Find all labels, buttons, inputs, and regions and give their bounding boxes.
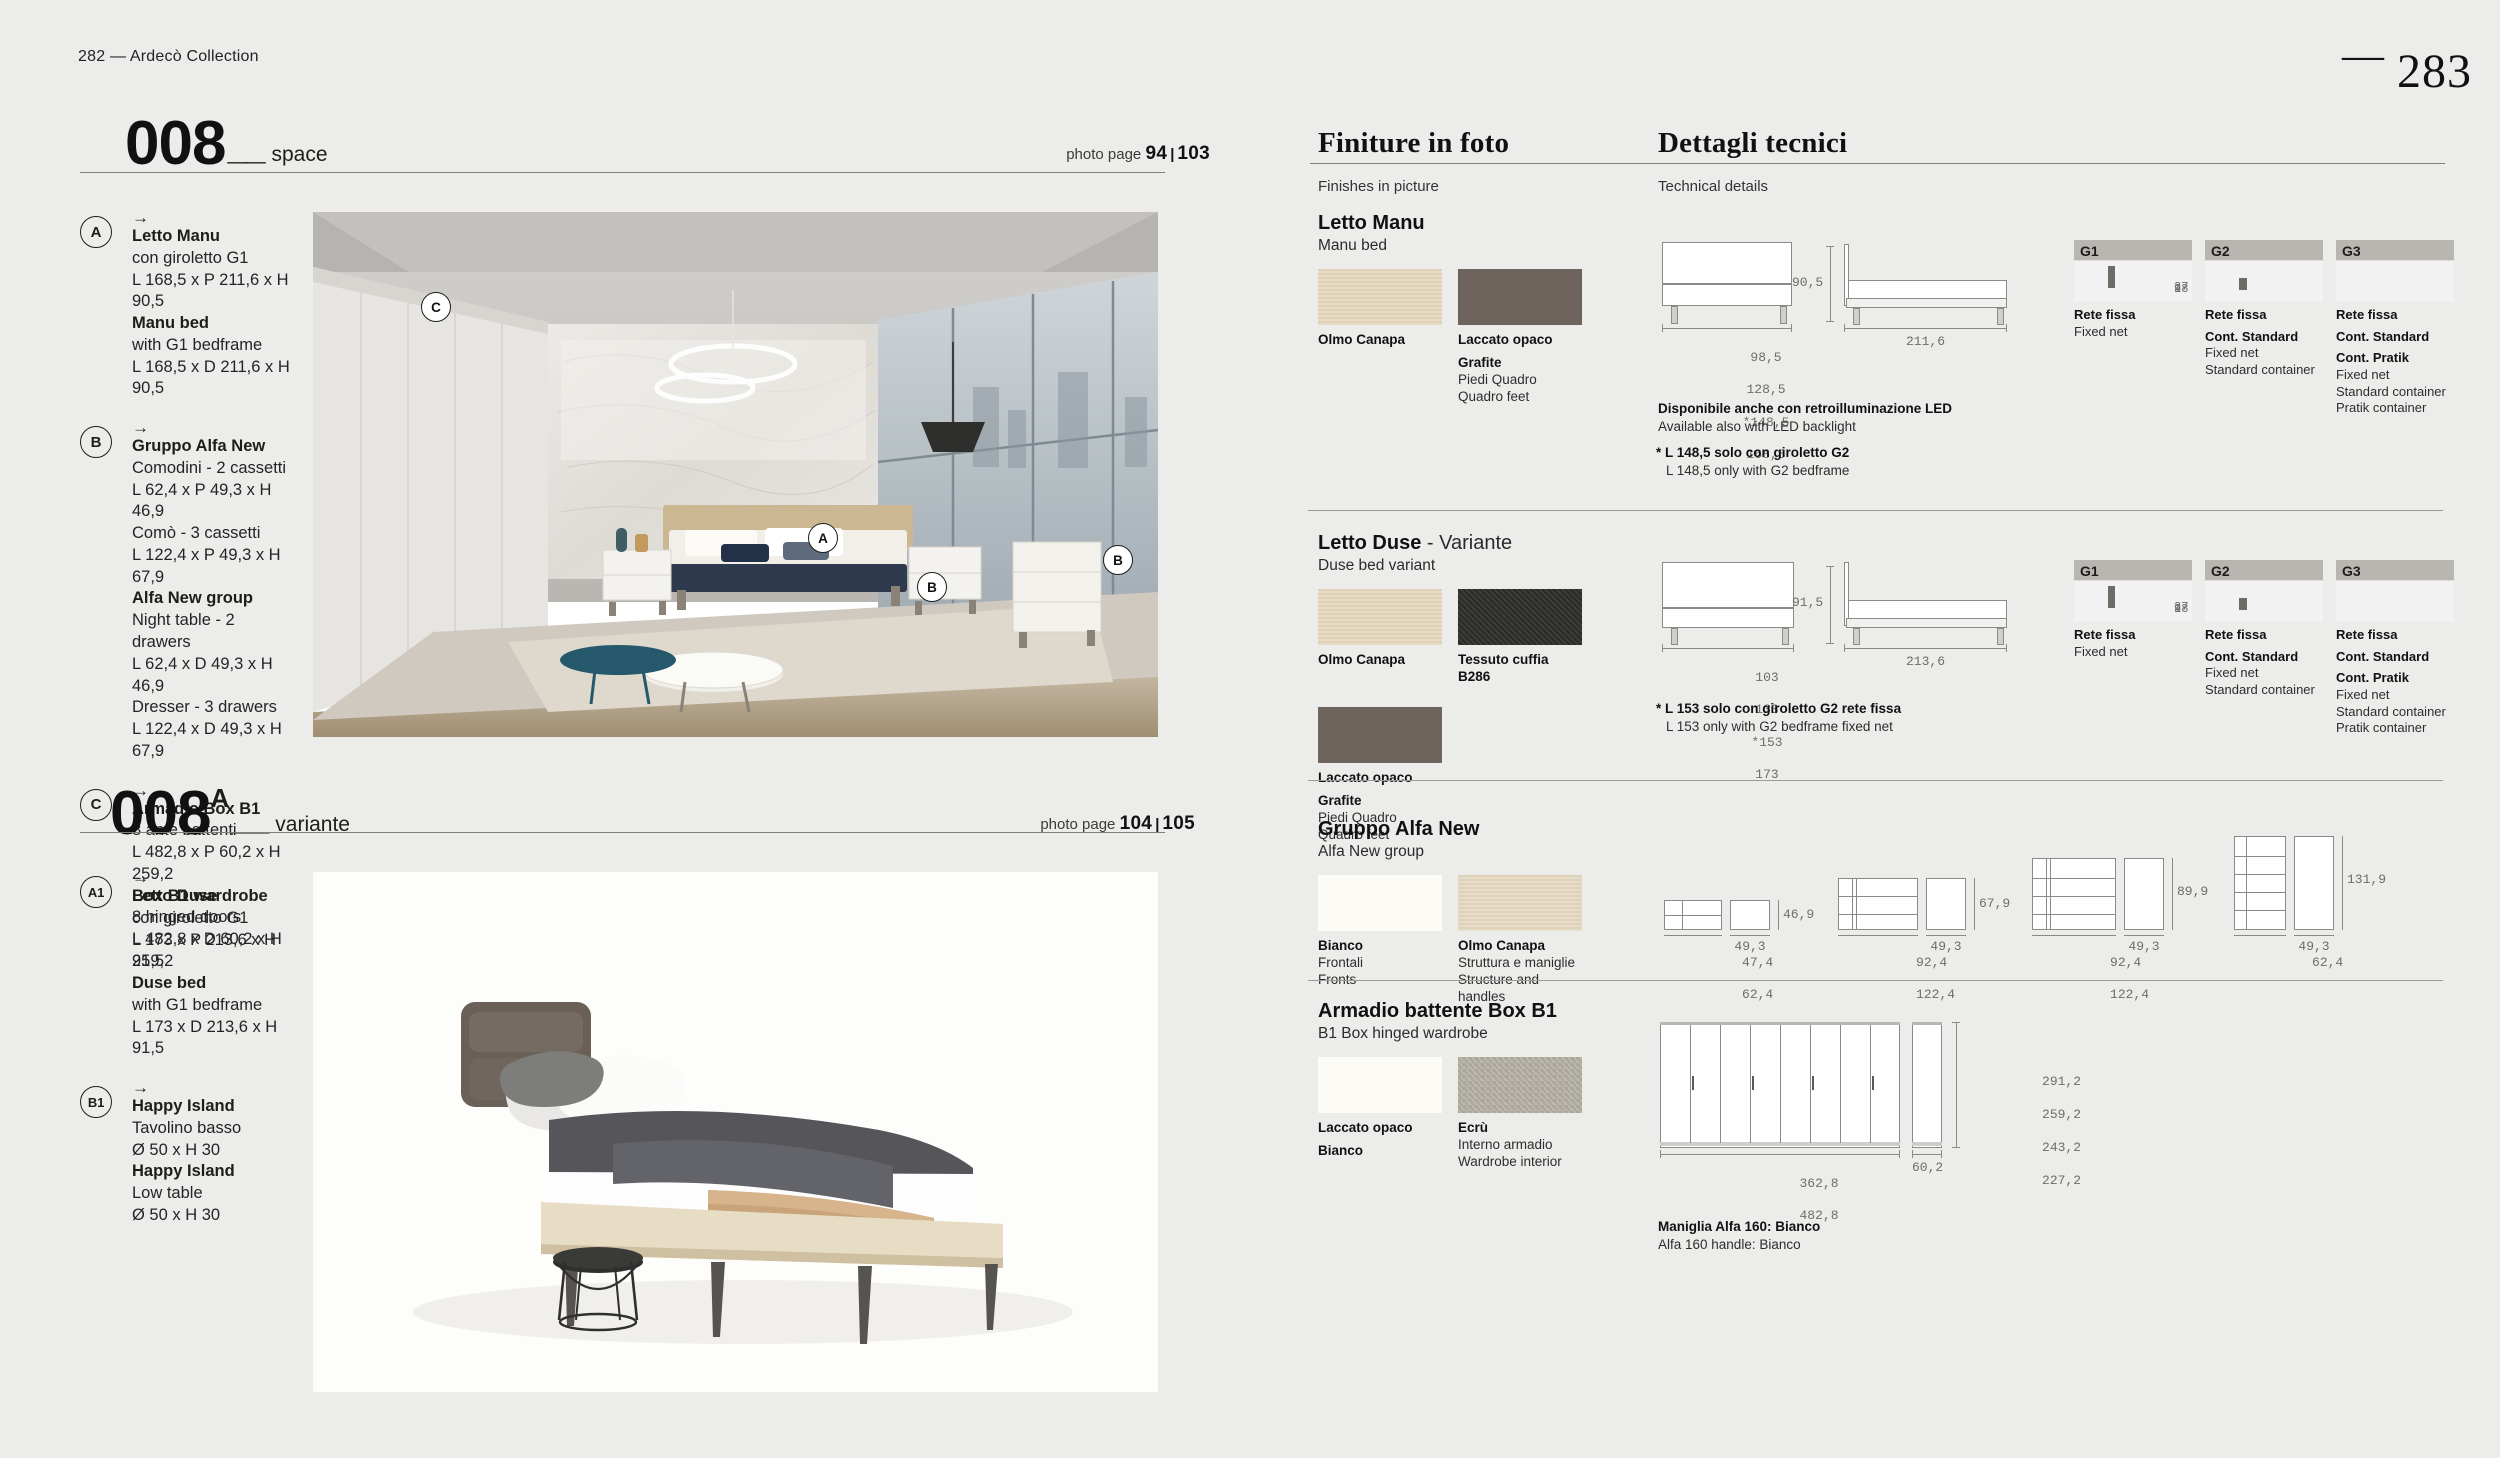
box-finishes: Armadio battente Box B1 B1 Box hinged wa… xyxy=(1318,1000,1618,1170)
photo-callout-b1[interactable]: B xyxy=(917,572,947,602)
list-item: B → Gruppo Alfa New Comodini - 2 cassett… xyxy=(80,422,290,762)
item-desc-it: con giroletto G1 xyxy=(132,248,290,270)
frame-option: G3 27 Rete fissa Cont. Standard Cont. Pr… xyxy=(2336,560,2454,737)
swatch-color xyxy=(1318,875,1442,931)
swatch-desc: Piedi Quadro xyxy=(1458,371,1582,388)
frame-en-1: Fixed net xyxy=(2336,367,2454,384)
photo-page-label: photo page xyxy=(1066,146,1141,163)
item-name-it: Letto Duse xyxy=(132,886,290,908)
item-dim-en-2: L 122,4 x D 49,3 x H 67,9 xyxy=(132,719,290,763)
frame-name-1: Rete fissa xyxy=(2205,307,2323,324)
note-en: L 153 only with G2 bedframe fixed net xyxy=(1666,718,1893,736)
item-badge: B xyxy=(80,426,112,458)
photo-page-from: 104 xyxy=(1120,813,1153,834)
alfa-u2-height: 67,9 xyxy=(1979,896,2010,912)
item-desc-en: with G1 bedframe xyxy=(132,995,290,1017)
box-depth: 60,2 xyxy=(1912,1160,1942,1176)
note-it: Disponibile anche con retroilluminazione… xyxy=(1658,401,1952,416)
swatch-color xyxy=(1318,589,1442,645)
swatch-desc: Struttura e maniglie xyxy=(1458,954,1582,971)
frame-en-3: Pratik container xyxy=(2336,720,2454,737)
alfa-u1-depth: 49,3 xyxy=(1730,939,1770,955)
right-page: —283 Finiture in foto Dettagli tecnici F… xyxy=(1250,0,2500,1458)
manu-note-asterisk: * L 148,5 solo con giroletto G2 L 148,5 … xyxy=(1656,444,1849,479)
column-header-finishes: Finiture in foto xyxy=(1318,128,1638,158)
frame-code: G3 xyxy=(2342,563,2361,579)
item-name-en: Happy Island xyxy=(132,1161,290,1183)
note-it: * L 153 solo con giroletto G2 rete fissa xyxy=(1656,701,1901,716)
swatch: Olmo Canapa Struttura e maniglie Structu… xyxy=(1458,875,1582,1005)
swatch: Olmo Canapa xyxy=(1318,589,1442,685)
section-header-008: 008 __ space photo page 94|103 xyxy=(125,118,1210,170)
item-desc-it: Comodini - 2 cassetti xyxy=(132,458,290,480)
swatch-name-2: Bianco xyxy=(1318,1142,1442,1159)
photo-page-to: 103 xyxy=(1177,143,1210,164)
arrow-icon: → xyxy=(132,1082,290,1094)
section-word: variante xyxy=(275,813,350,837)
frame-en-2: Standard container xyxy=(2205,362,2323,379)
swatch: Olmo Canapa xyxy=(1318,269,1442,405)
item-dim-it: L 168,5 x P 211,6 x H 90,5 xyxy=(132,270,290,314)
manu-note-led: Disponibile anche con retroilluminazione… xyxy=(1658,400,1952,435)
list-item: A1 → Letto Duse con giroletto G1 L 173 x… xyxy=(80,872,290,1060)
item-desc-en: Low table xyxy=(132,1183,290,1205)
swatch-name: Olmo Canapa xyxy=(1318,651,1442,668)
manu-finishes: Letto Manu Manu bed Olmo Canapa Laccato … xyxy=(1318,212,1608,405)
manu-title-en: Manu bed xyxy=(1318,237,1608,255)
room-photo: C A B B xyxy=(313,212,1158,737)
frame-name-2: Cont. Standard xyxy=(2336,329,2454,346)
swatch-desc-2: Quadro feet xyxy=(1458,388,1582,405)
swatch-color xyxy=(1458,589,1582,645)
item-desc-it: con giroletto G1 xyxy=(132,908,290,930)
page-number-value: 283 xyxy=(2397,45,2472,98)
swatch-name: Laccato opaco xyxy=(1458,331,1582,348)
duse-title-it: Letto Duse - Variante xyxy=(1318,532,1608,555)
swatch: Laccato opaco Bianco xyxy=(1318,1057,1442,1170)
swatch-color xyxy=(1318,1057,1442,1113)
item-desc-en: with G1 bedframe xyxy=(132,335,290,357)
frame-option: G3 27 Rete fissa Cont. Standard Cont. Pr… xyxy=(2336,240,2454,417)
duse-side-length: 213,6 xyxy=(1844,654,2007,670)
swatch-color xyxy=(1318,269,1442,325)
item-dim-it: Ø 50 x H 30 xyxy=(132,1140,290,1162)
photo-page-to: 105 xyxy=(1162,813,1195,834)
duse-note-asterisk: * L 153 solo con giroletto G2 rete fissa… xyxy=(1656,700,1901,735)
item-badge: B1 xyxy=(80,1086,112,1118)
swatch-color xyxy=(1458,875,1582,931)
frame-name-3: Cont. Pratik xyxy=(2336,350,2454,367)
frame-en-2: Standard container xyxy=(2205,682,2323,699)
frame-dim: 27 xyxy=(2174,280,2450,294)
frame-code: G2 xyxy=(2211,243,2230,259)
duse-side-height: 91,5 xyxy=(1792,595,1823,611)
section-word: space xyxy=(272,143,328,167)
technical-title: Dettagli tecnici xyxy=(1658,128,2078,158)
frame-option: G1 9 Rete fissa Fixed net xyxy=(2074,240,2192,417)
list-item: A → Letto Manu con giroletto G1 L 168,5 … xyxy=(80,212,290,400)
frame-name-1: Rete fissa xyxy=(2336,307,2454,324)
note-en: L 148,5 only with G2 bedframe xyxy=(1666,462,1849,480)
column-header-technical: Dettagli tecnici xyxy=(1658,128,2078,158)
finishes-subtitle: Finishes in picture xyxy=(1318,178,1439,195)
frame-name-1: Rete fissa xyxy=(2074,627,2192,644)
section-dash: __ xyxy=(227,126,263,168)
alfa-drawings: 47,4 62,4 92,4 49,3 46,9 92,4 122,4 xyxy=(1660,836,2400,956)
box-heights: 291,2 259,2 243,2 227,2 xyxy=(1964,1058,2081,1205)
duse-drawings: 103 133 *153 173 213,6 91,5 xyxy=(1658,560,2028,690)
item-dim-en: L 173 x D 213,6 x H 91,5 xyxy=(132,1017,290,1061)
item-badge: A xyxy=(80,216,112,248)
item-desc-en: Night table - 2 drawers xyxy=(132,610,290,654)
box-note-handle: Maniglia Alfa 160: Bianco Alfa 160 handl… xyxy=(1658,1218,1820,1253)
photo-page-label: photo page xyxy=(1040,816,1115,833)
technical-subtitle: Technical details xyxy=(1658,178,1768,195)
page-dash: — xyxy=(2342,33,2385,79)
frame-en-1: Fixed net xyxy=(2205,665,2323,682)
duse-finishes: Letto Duse - Variante Duse bed variant O… xyxy=(1318,532,1608,843)
note-en: Alfa 160 handle: Bianco xyxy=(1658,1237,1801,1252)
section-superscript: A xyxy=(210,783,229,814)
item-name-en: Manu bed xyxy=(132,313,290,335)
swatch-name-2: Grafite xyxy=(1458,354,1582,371)
frame-name-3: Cont. Pratik xyxy=(2336,670,2454,687)
item-dim-it: L 62,4 x P 49,3 x H 46,9 xyxy=(132,480,290,524)
swatch: Tessuto cuffia B286 xyxy=(1458,589,1582,685)
swatch-color xyxy=(1318,707,1442,763)
duse-bedframes: G1 9 Rete fissa Fixed net G2 18 Rete fis… xyxy=(2074,560,2454,737)
swatch: Laccato opaco Grafite Piedi Quadro Quadr… xyxy=(1458,269,1582,405)
swatch-name: Olmo Canapa xyxy=(1458,937,1582,954)
box-title-en: B1 Box hinged wardrobe xyxy=(1318,1025,1618,1043)
box-title-it: Armadio battente Box B1 xyxy=(1318,1000,1618,1023)
alfa-u2-depth: 49,3 xyxy=(1926,939,1966,955)
swatch-color xyxy=(1458,269,1582,325)
item-name-it: Gruppo Alfa New xyxy=(132,436,290,458)
finishes-subtitle-wrap: Finishes in picture xyxy=(1318,171,1439,195)
alfa-u3-depth: 49,3 xyxy=(2124,939,2164,955)
item-dim-en: Ø 50 x H 30 xyxy=(132,1205,290,1227)
manu-side-height: 90,5 xyxy=(1792,275,1823,291)
item-dim-en: L 168,5 x D 211,6 x H 90,5 xyxy=(132,357,290,401)
swatch-name: Ecrù xyxy=(1458,1119,1582,1136)
item-badge: C xyxy=(80,789,112,821)
arrow-icon: → xyxy=(132,422,290,434)
swatch-name: Olmo Canapa xyxy=(1318,331,1442,348)
frame-name-2: Cont. Standard xyxy=(2336,649,2454,666)
note-it: * L 148,5 solo con giroletto G2 xyxy=(1656,445,1849,460)
frame-name-2: Cont. Standard xyxy=(2205,329,2323,346)
frame-code: G1 xyxy=(2080,563,2099,579)
arrow-icon: → xyxy=(132,872,290,884)
alfa-u4-depth: 49,3 xyxy=(2294,939,2334,955)
page-number: —283 xyxy=(2342,24,2472,91)
swatch-name: Laccato opaco xyxy=(1318,1119,1442,1136)
manu-title-it: Letto Manu xyxy=(1318,212,1608,235)
note-en: Available also with LED backlight xyxy=(1658,419,1856,434)
section-code: 008 xyxy=(125,118,225,170)
frame-option: G2 18 Rete fissa Cont. Standard Fixed ne… xyxy=(2205,240,2323,417)
catalog-spread: 282 — Ardecò Collection 008 __ space pho… xyxy=(0,0,2500,1458)
photo-page-from: 94 xyxy=(1145,143,1167,164)
item-dim-it: L 173 x P 213,6 x H 91,5 xyxy=(132,930,290,974)
item-name-en: Alfa New group xyxy=(132,588,290,610)
swatch-desc: Frontali xyxy=(1318,954,1442,971)
swatch-name-2: Grafite xyxy=(1318,792,1442,809)
photo-page-ref: photo page 94|103 xyxy=(1066,143,1210,165)
manu-bedframes: G1 9 Rete fissa Fixed net G2 18 Rete fis… xyxy=(2074,240,2454,417)
section-rule-008 xyxy=(80,172,1165,173)
folio-left: 282 — Ardecò Collection xyxy=(78,48,259,66)
swatch-name: Tessuto cuffia B286 xyxy=(1458,651,1582,685)
item-name-it: Letto Manu xyxy=(132,226,290,248)
frame-code: G3 xyxy=(2342,243,2361,259)
frame-name-2: Cont. Standard xyxy=(2205,649,2323,666)
duse-title-en: Duse bed variant xyxy=(1318,557,1608,575)
bed-photo: A1 B1 xyxy=(313,872,1158,1392)
room-photo-illustration xyxy=(313,212,1158,737)
frame-code: G1 xyxy=(2080,243,2099,259)
swatch: Ecrù Interno armadio Wardrobe interior xyxy=(1458,1057,1582,1170)
frame-option: G2 18 Rete fissa Cont. Standard Fixed ne… xyxy=(2205,560,2323,737)
alfa-title-en: Alfa New group xyxy=(1318,843,1608,861)
frame-option: G1 9 Rete fissa Fixed net xyxy=(2074,560,2192,737)
photo-callout-b2[interactable]: B xyxy=(1103,545,1133,575)
frame-name-1: Rete fissa xyxy=(2336,627,2454,644)
alfa-u3-height: 89,9 xyxy=(2177,884,2208,900)
photo-callout-c[interactable]: C xyxy=(421,292,451,322)
item-desc-it-2: Comò - 3 cassetti xyxy=(132,523,290,545)
frame-en-3: Pratik container xyxy=(2336,400,2454,417)
swatch-desc: Interno armadio xyxy=(1458,1136,1582,1153)
frame-name-1: Rete fissa xyxy=(2205,627,2323,644)
swatch-color xyxy=(1458,1057,1582,1113)
item-desc-it: Tavolino basso xyxy=(132,1118,290,1140)
right-header-rule xyxy=(1310,163,2445,164)
bed-photo-illustration xyxy=(313,872,1158,1392)
swatch: Bianco Frontali Fronts xyxy=(1318,875,1442,1005)
item-dim-it-2: L 122,4 x P 49,3 x H 67,9 xyxy=(132,545,290,589)
box-drawings: 362,8 482,8 60,2 291,2 259,2 243,2 227,2 xyxy=(1660,1022,2080,1202)
duse-variant-label: - Variante xyxy=(1427,532,1512,554)
duse-swatch-row-1: Olmo Canapa Tessuto cuffia B286 xyxy=(1318,589,1608,685)
item-name-it: Happy Island xyxy=(132,1096,290,1118)
frame-en-2: Standard container xyxy=(2336,704,2454,721)
frame-en-1: Fixed net xyxy=(2336,687,2454,704)
note-it: Maniglia Alfa 160: Bianco xyxy=(1658,1219,1820,1234)
frame-en-1: Fixed net xyxy=(2074,644,2192,661)
item-badge: A1 xyxy=(80,876,112,908)
box-swatch-row: Laccato opaco Bianco Ecrù Interno armadi… xyxy=(1318,1057,1618,1170)
arrow-icon: → xyxy=(132,212,290,224)
manu-side-length: 211,6 xyxy=(1844,334,2007,350)
alfa-u1-height: 46,9 xyxy=(1783,907,1814,923)
frame-en-1: Fixed net xyxy=(2074,324,2192,341)
frame-dim: 27 xyxy=(2174,600,2450,614)
swatch-name: Laccato opaco xyxy=(1318,769,1442,786)
alfa-swatch-row: Bianco Frontali Fronts Olmo Canapa Strut… xyxy=(1318,875,1608,1005)
frame-en-2: Standard container xyxy=(2336,384,2454,401)
frame-code: G2 xyxy=(2211,563,2230,579)
item-desc-en-2: Dresser - 3 drawers xyxy=(132,697,290,719)
item-dim-en: L 62,4 x D 49,3 x H 46,9 xyxy=(132,654,290,698)
section-rule-008a xyxy=(80,832,1165,833)
swatch-name: Bianco xyxy=(1318,937,1442,954)
item-list-008a: A1 → Letto Duse con giroletto G1 L 173 x… xyxy=(80,872,290,1249)
frame-name-1: Rete fissa xyxy=(2074,307,2192,324)
manu-drawings: 98,5 128,5 *148,5 168,5 211,6 90,5 xyxy=(1658,242,2028,372)
item-name-en: Duse bed xyxy=(132,973,290,995)
technical-subtitle-wrap: Technical details xyxy=(1658,171,1768,195)
alfa-finishes: Gruppo Alfa New Alfa New group Bianco Fr… xyxy=(1318,818,1608,1005)
swatch-desc-2: Wardrobe interior xyxy=(1458,1153,1582,1170)
frame-en-1: Fixed net xyxy=(2205,345,2323,362)
left-page: 282 — Ardecò Collection 008 __ space pho… xyxy=(0,0,1250,1458)
list-item: B1 → Happy Island Tavolino basso Ø 50 x … xyxy=(80,1082,290,1227)
manu-swatch-row: Olmo Canapa Laccato opaco Grafite Piedi … xyxy=(1318,269,1608,405)
finishes-title: Finiture in foto xyxy=(1318,128,1638,158)
alfa-title-it: Gruppo Alfa New xyxy=(1318,818,1608,841)
alfa-u4-height: 131,9 xyxy=(2347,872,2386,888)
photo-callout-a[interactable]: A xyxy=(808,523,838,553)
